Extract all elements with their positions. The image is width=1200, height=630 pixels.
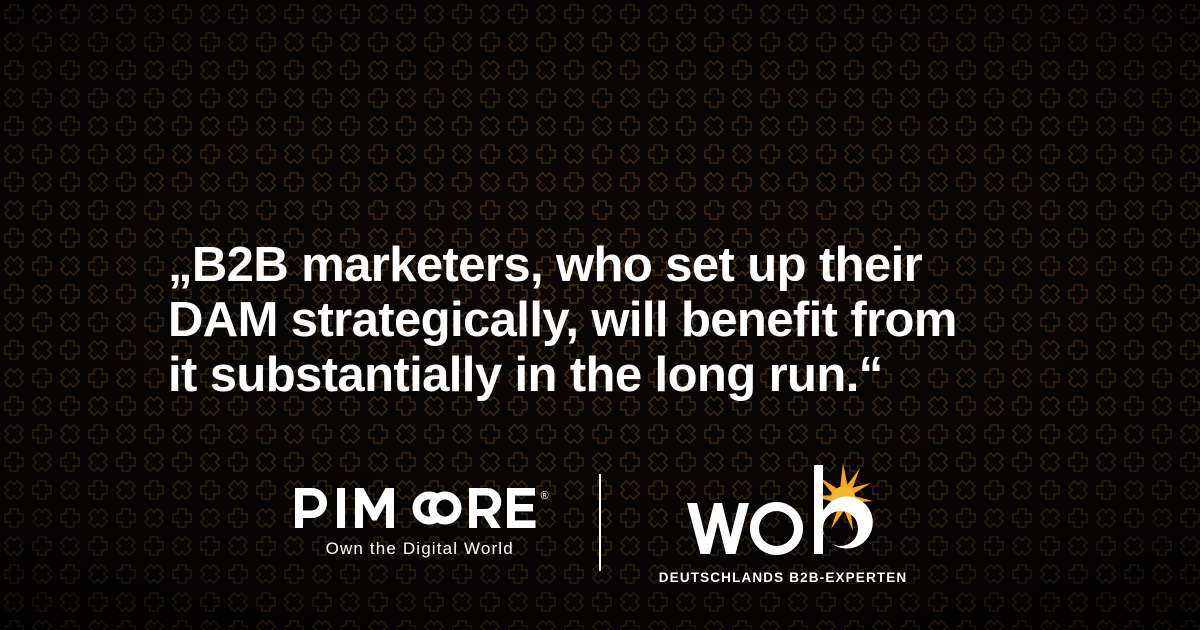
wob-wordmark [685,459,881,565]
wob-tagline: DEUTSCHLANDS B2B-EXPERTEN [659,570,908,585]
quote-line-1: „B2B marketers, who set up their [168,238,1068,293]
wob-logo[interactable]: DEUTSCHLANDS B2B-EXPERTEN [601,459,908,585]
quote-line-2: DAM strategically, will benefit from [168,293,1068,348]
quote-line-3: it substantially in the long run.“ [168,348,1068,403]
pimcore-wordmark: ® [293,486,547,530]
quote-card: „B2B marketers, who set up their DAM str… [0,0,1200,630]
pimcore-logo[interactable]: ® Own the Digital World [293,486,599,559]
pimcore-trademark-icon: ® [541,491,549,502]
quote-block: „B2B marketers, who set up their DAM str… [168,238,1068,403]
pimcore-tagline: Own the Digital World [326,539,514,559]
logo-bar: ® Own the Digital World [0,462,1200,582]
